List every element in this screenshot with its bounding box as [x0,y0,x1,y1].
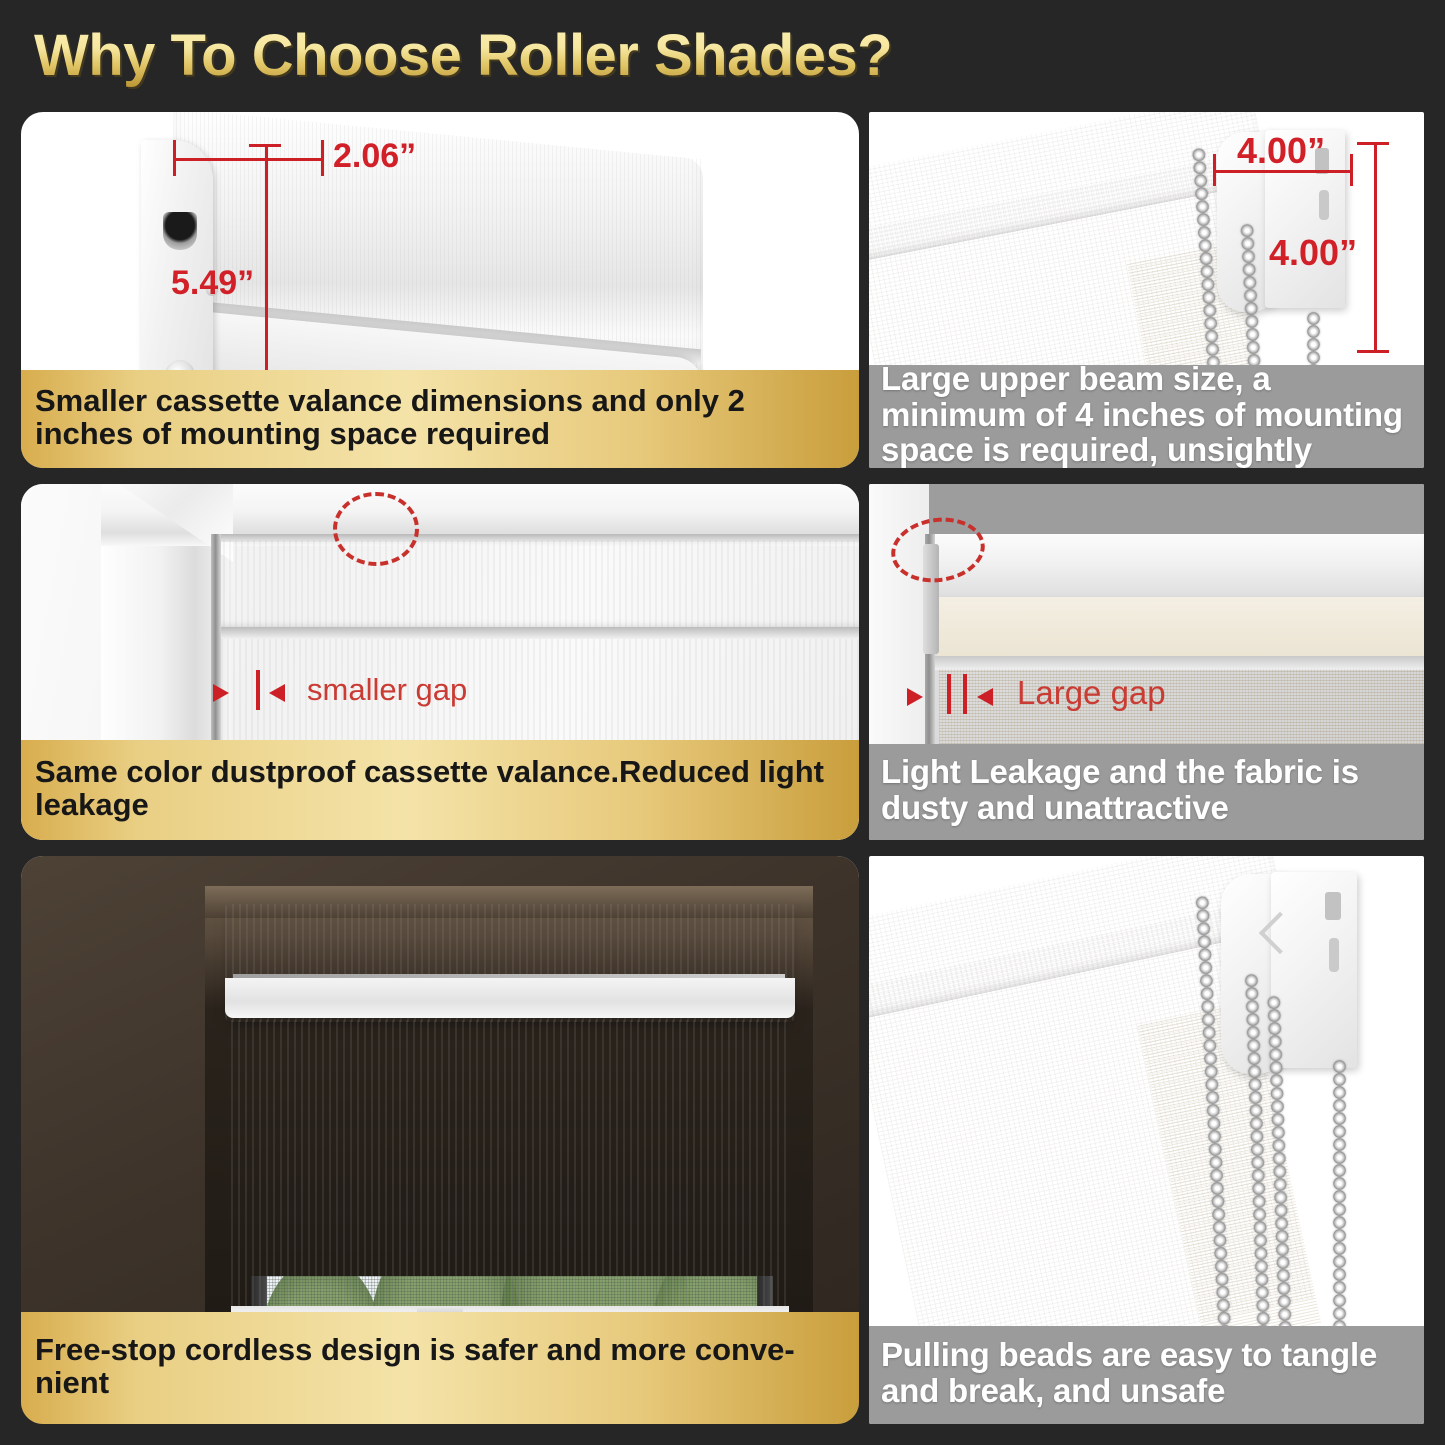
head-box-lower-lip [225,978,795,1018]
panel-2-caption-text: Large upper beam size, a minimum of 4 in… [881,361,1414,468]
panel-5-caption-bar: Free-stop cordless design is safer and m… [21,1312,859,1424]
beam-height-tick-top [1357,142,1389,145]
infographic-root: Why To Choose Roller Shades? Why To Choo… [0,0,1445,1445]
beam-height-dim-line [1374,142,1377,352]
shade-fabric [231,1020,789,1310]
cassette-valance [217,540,859,628]
title-bar: Why To Choose Roller Shades? Why To Choo… [0,0,1445,100]
panel-6-caption-text: Pulling beads are easy to tangle and bre… [881,1337,1414,1408]
panel-3-caption-text: Same color dustproof cassette valance.Re… [35,755,845,822]
gap-arrow-left-icon [213,684,229,702]
gap-callout-label: smaller gap [307,672,467,708]
gap-marker-line-b [963,674,967,714]
panel-large-upper-beam: 4.00” 4.00” Large upper beam size, a min… [869,112,1424,468]
panel-dustproof-valance: smaller gap Same color dustproof cassett… [21,484,859,840]
panel-cordless-design: Free-stop cordless design is safer and m… [21,856,859,1424]
width-dim-line [173,158,323,161]
height-dimension-label: 5.49” [171,264,254,303]
head-rail [927,534,1424,602]
panel-3-caption-bar: Same color dustproof cassette valance.Re… [21,740,859,840]
width-dimension-label: 2.06” [333,137,416,176]
width-dim-tick-left [173,140,176,176]
gap-arrow-right-icon [269,684,285,702]
panel-6-caption-bar: Pulling beads are easy to tangle and bre… [869,1326,1424,1424]
page-title: Why To Choose Roller Shades? [34,22,892,89]
panel-4-caption-bar: Light Leakage and the fabric is dusty an… [869,744,1424,840]
bracket-slot2-icon [1319,190,1329,220]
beam-height-label: 4.00” [1269,232,1357,274]
beam-height-tick-bottom [1357,350,1389,353]
panel-light-leakage: Large gap Light Leakage and the fabric i… [869,484,1424,840]
panel-4-caption-text: Light Leakage and the fabric is dusty an… [881,754,1414,825]
panel-pulling-beads: Pulling beads are easy to tangle and bre… [869,856,1424,1424]
gap-arrow-left-icon [907,688,923,706]
bracket-mount-plate [1271,872,1357,1068]
beam-width-tick-left [1213,154,1216,186]
gap-marker-line-a [947,674,951,714]
height-dim-tick-top [249,144,281,147]
panel-2-caption-bar: Large upper beam size, a minimum of 4 in… [869,365,1424,468]
panel-1-caption-bar: Smaller cassette valance dimensions and … [21,370,859,468]
panel-1-caption-text: Smaller cassette valance dimensions and … [35,384,845,451]
gap-arrow-right-icon [977,688,993,706]
end-cap-slot-icon [163,212,197,250]
gap-marker-line [256,670,260,710]
cream-valance-band [937,597,1424,659]
width-dim-tick-right [321,140,324,176]
bracket-slot2-icon [1329,938,1339,972]
gap-callout-label: Large gap [1017,674,1166,712]
bead-chain-right [1333,1060,1346,1332]
beam-width-label: 4.00” [1237,130,1325,172]
bracket-slot-icon [1325,892,1341,920]
panel-smaller-cassette: 2.06” 5.49” Smaller cassette valance dim… [21,112,859,468]
highlight-circle-icon [333,492,419,566]
beam-width-tick-right [1350,154,1353,186]
panel-5-caption-text: Free-stop cordless design is safer and m… [35,1333,845,1400]
valance-second-rail [217,627,859,639]
bottom-rail [935,656,1424,670]
